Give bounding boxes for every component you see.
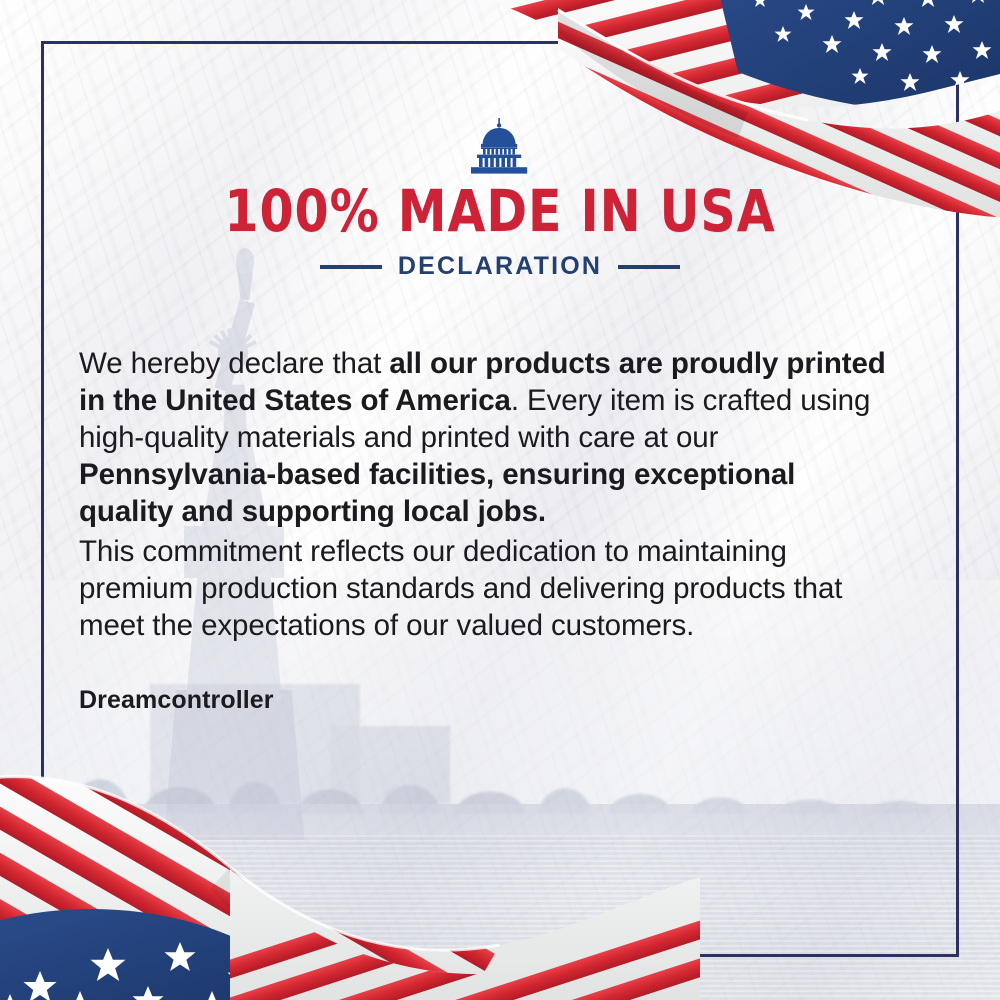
header: 100% MADE IN USA DECLARATION bbox=[0, 118, 1000, 281]
page-title: 100% MADE IN USA bbox=[30, 182, 970, 240]
paragraph-two: This commitment reflects our dedication … bbox=[79, 533, 894, 644]
paragraph-one-bold-two: Pennsylvania-based facilities, ensuring … bbox=[79, 458, 795, 528]
horizontal-dash-icon bbox=[618, 265, 680, 269]
signature: Dreamcontroller bbox=[79, 686, 894, 715]
paragraph-one: We hereby declare that all our products … bbox=[79, 345, 894, 530]
declaration-body: We hereby declare that all our products … bbox=[79, 345, 894, 715]
capitol-building-icon bbox=[463, 118, 537, 174]
page-subtitle: DECLARATION bbox=[398, 252, 602, 281]
paragraph-one-segment-one: We hereby declare that bbox=[79, 347, 389, 380]
subtitle-row: DECLARATION bbox=[0, 252, 1000, 281]
declaration-page: 100% MADE IN USA DECLARATION We hereby d… bbox=[0, 0, 1000, 1000]
horizontal-dash-icon bbox=[320, 265, 382, 269]
